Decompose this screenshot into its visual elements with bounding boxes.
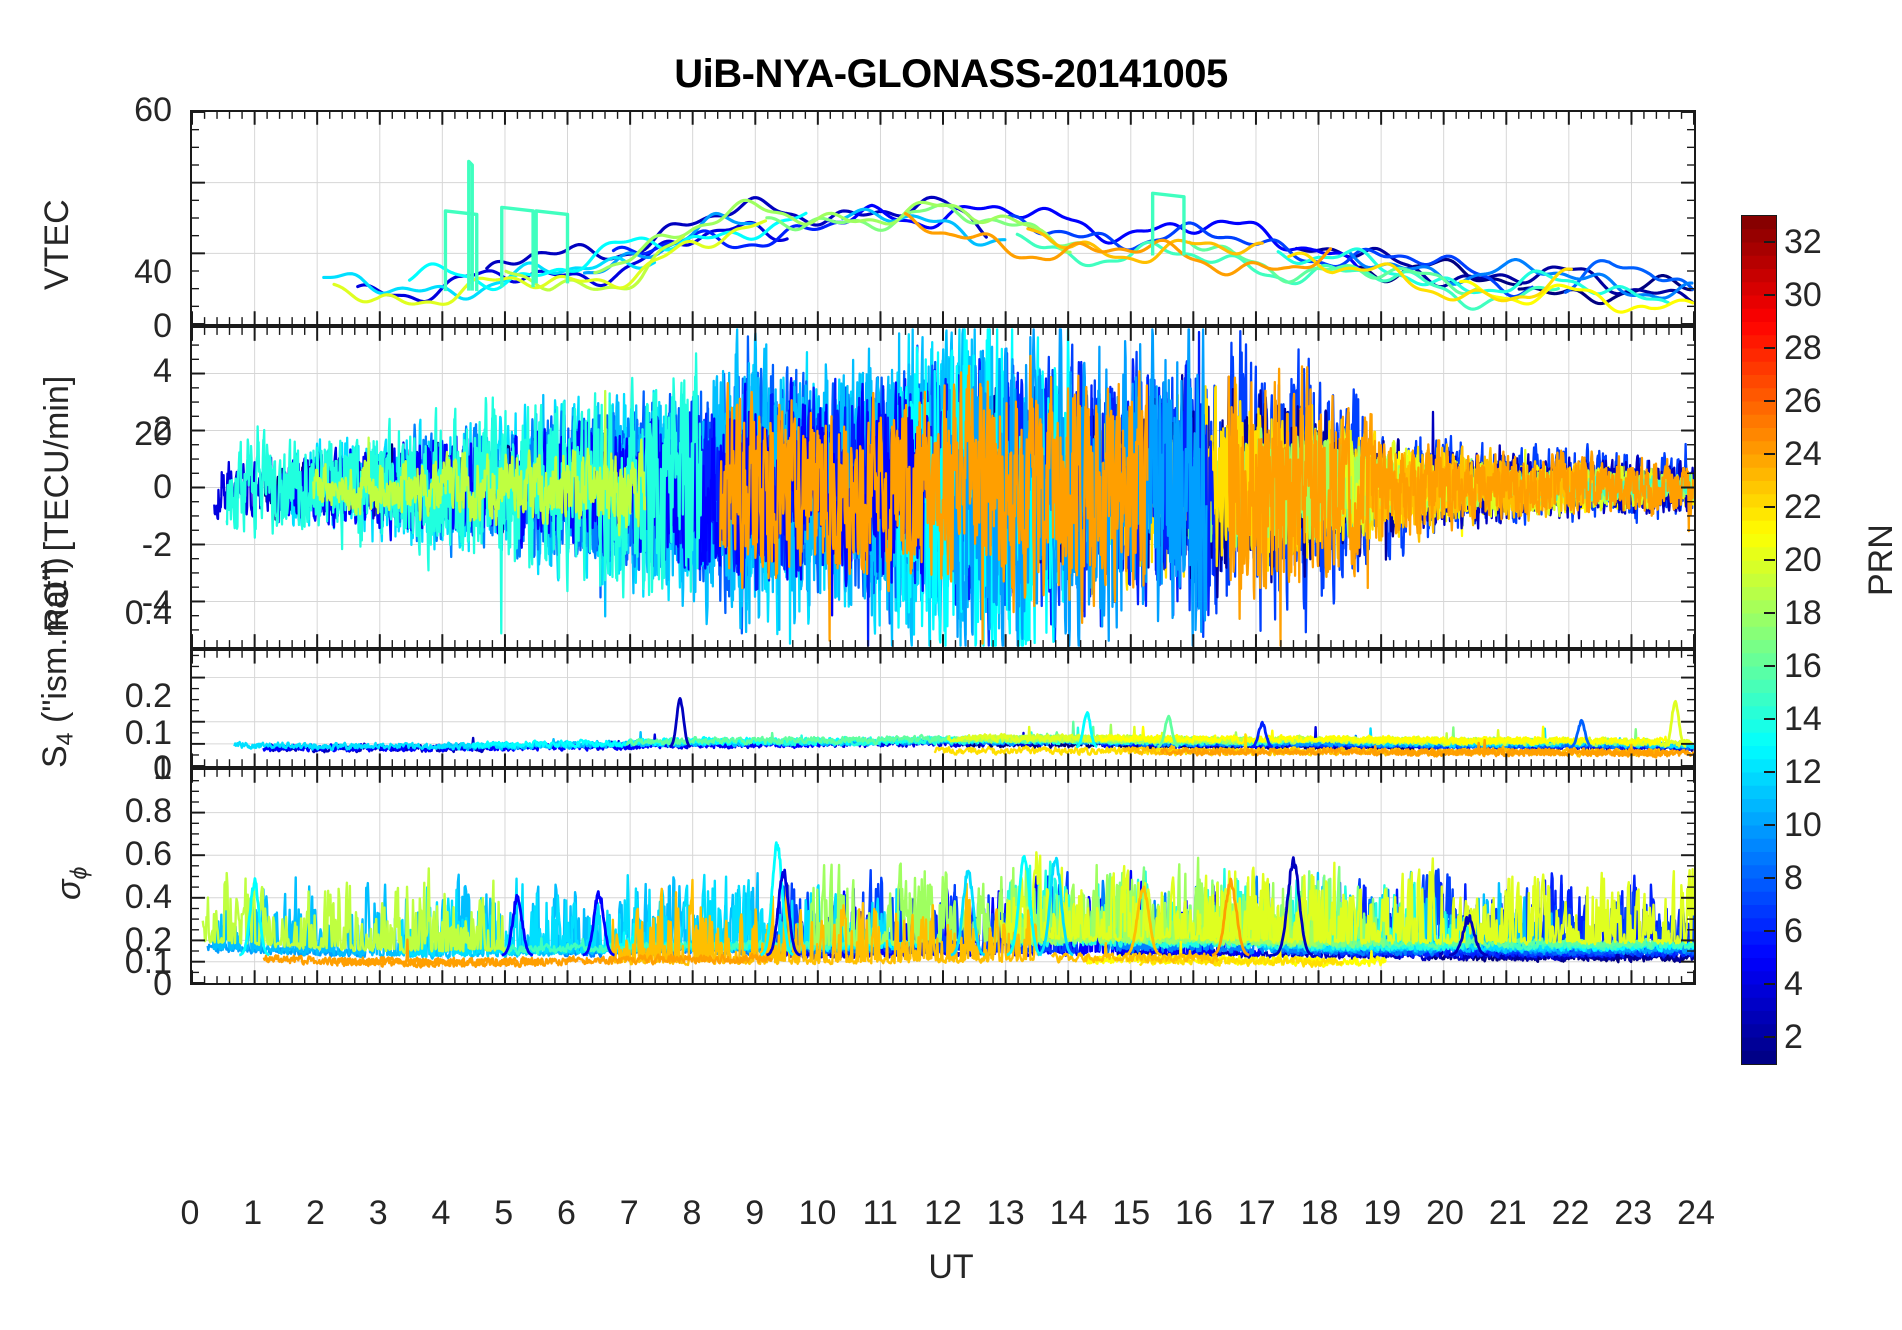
vtec-plot-canvas	[192, 112, 1694, 324]
colorbar-tickmark	[1764, 506, 1775, 508]
colorbar-tickmark	[1764, 241, 1775, 243]
s4-plot-canvas	[192, 651, 1694, 766]
colorbar-tickmark	[1764, 294, 1775, 296]
colorbar-tick-20: 20	[1784, 543, 1822, 577]
colorbar-tickmark	[1764, 559, 1775, 561]
colorbar-tickmark	[1764, 453, 1775, 455]
colorbar-tick-4: 4	[1784, 967, 1803, 1001]
s4-source: ("ism.mat")	[36, 557, 74, 732]
vtec-ytick-60: 60	[60, 93, 172, 127]
panel-vtec	[190, 110, 1696, 326]
x-tick-24: 24	[1656, 1196, 1736, 1230]
colorbar-tick-12: 12	[1784, 755, 1822, 789]
colorbar-tick-2: 2	[1784, 1020, 1803, 1054]
colorbar-tick-8: 8	[1784, 861, 1803, 895]
rot-ytick-zero-top: 0	[60, 309, 172, 343]
colorbar-tickmark	[1764, 983, 1775, 985]
colorbar-tick-6: 6	[1784, 914, 1803, 948]
rot-plot-canvas	[192, 328, 1694, 647]
colorbar-tickmark	[1764, 877, 1775, 879]
colorbar-tickmark	[1764, 930, 1775, 932]
sigma-phi-plot-canvas	[192, 770, 1694, 983]
colorbar-tick-22: 22	[1784, 490, 1822, 524]
colorbar-tick-10: 10	[1784, 808, 1822, 842]
colorbar-tickmark	[1764, 612, 1775, 614]
colorbar-gradient	[1742, 216, 1776, 1064]
phi-subscript: ϕ	[65, 867, 91, 880]
colorbar-prn[interactable]	[1741, 215, 1777, 1065]
sigphi-ytick-08: 0.8	[40, 794, 172, 828]
panel-rot	[190, 326, 1696, 649]
colorbar-tick-28: 28	[1784, 331, 1822, 365]
colorbar-tickmark	[1764, 665, 1775, 667]
figure-root: UiB-NYA-GLONASS-20141005 60 40 20 VTEC 0…	[0, 0, 1902, 1330]
colorbar-tick-30: 30	[1784, 278, 1822, 312]
colorbar-tick-14: 14	[1784, 702, 1822, 736]
colorbar-tickmark	[1764, 347, 1775, 349]
colorbar-tick-24: 24	[1784, 437, 1822, 471]
s4-subscript: 4	[51, 732, 77, 745]
sigma-symbol: σ	[50, 879, 88, 900]
colorbar-tick-32: 32	[1784, 225, 1822, 259]
colorbar-tickmark	[1764, 718, 1775, 720]
vtec-axis-label: VTEC	[38, 199, 77, 290]
s4-axis-label: S4 ("ism.mat")	[36, 557, 78, 768]
colorbar-label: PRN	[1862, 524, 1901, 596]
colorbar-tickmark	[1764, 400, 1775, 402]
panel-s4	[190, 649, 1696, 768]
colorbar-tick-18: 18	[1784, 596, 1822, 630]
colorbar-tickmark	[1764, 824, 1775, 826]
colorbar-tick-16: 16	[1784, 649, 1822, 683]
sigphi-ytick-0: 0	[40, 967, 172, 1001]
colorbar-tickmark	[1764, 1036, 1775, 1038]
sigma-phi-axis-label: σϕ	[50, 867, 92, 900]
sigphi-ytick-1: 1	[40, 751, 172, 785]
figure-title: UiB-NYA-GLONASS-20141005	[0, 52, 1902, 97]
colorbar-tickmark	[1764, 771, 1775, 773]
panel-sigma-phi	[190, 768, 1696, 985]
colorbar-tick-26: 26	[1784, 384, 1822, 418]
x-axis-label: UT	[0, 1248, 1902, 1287]
